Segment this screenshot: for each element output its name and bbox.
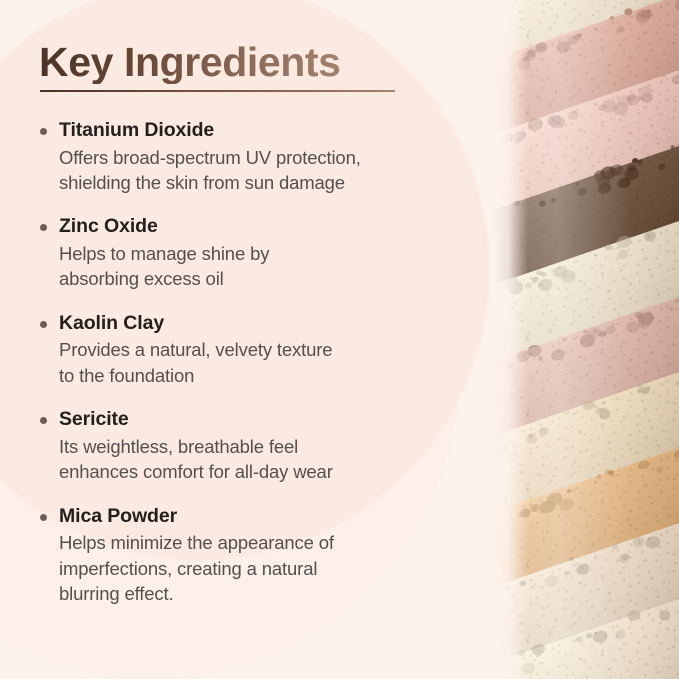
bullet-icon [40,128,47,135]
ingredient-name: Zinc Oxide [59,213,456,241]
list-item: Zinc OxideHelps to manage shine by absor… [38,213,456,291]
bullet-icon [40,321,47,328]
powder-swatch-image [494,0,679,679]
ingredient-description: Helps to manage shine by absorbing exces… [59,241,456,292]
bullet-icon [40,514,47,521]
title-underline [40,90,395,92]
ingredient-name: Kaolin Clay [59,310,456,338]
ingredient-description: Offers broad-spectrum UV protection, shi… [59,145,456,196]
list-item: Mica PowderHelps minimize the appearance… [38,503,456,607]
ingredient-name: Sericite [59,406,456,434]
powder-stripe-stack [494,0,679,679]
bullet-icon [40,417,47,424]
bullet-icon [40,224,47,231]
ingredient-list: Titanium DioxideOffers broad-spectrum UV… [38,117,456,606]
page-title: Key Ingredients [39,41,341,84]
list-item: Titanium DioxideOffers broad-spectrum UV… [38,117,456,195]
list-item: Kaolin ClayProvides a natural, velvety t… [38,310,456,388]
content-column: Key Ingredients Titanium DioxideOffers b… [0,0,470,679]
list-item: SericiteIts weightless, breathable feel … [38,406,456,484]
ingredient-description: Helps minimize the appearance of imperfe… [59,530,456,606]
ingredient-name: Titanium Dioxide [59,117,456,145]
ingredient-name: Mica Powder [59,503,456,531]
key-ingredients-infographic: Key Ingredients Titanium DioxideOffers b… [0,0,679,679]
powder-crumb [674,298,679,303]
ingredient-description: Provides a natural, velvety texture to t… [59,337,456,388]
ingredient-description: Its weightless, breathable feel enhances… [59,434,456,485]
